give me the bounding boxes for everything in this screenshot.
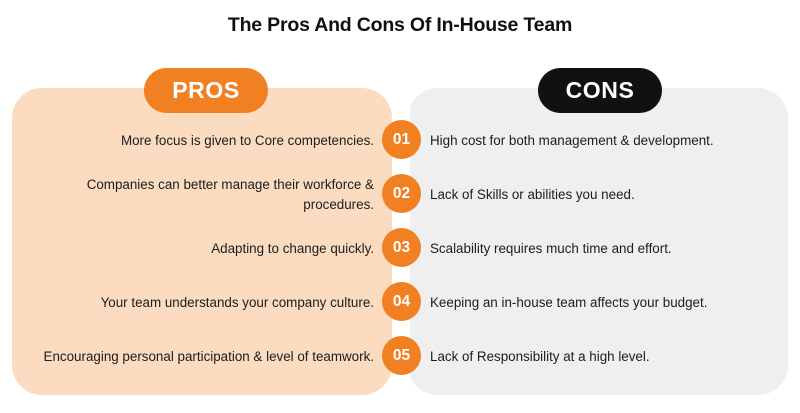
comparison-row: Encouraging personal participation & lev…: [0, 334, 800, 380]
row-number-badge: 01: [382, 120, 421, 159]
page-title: The Pros And Cons Of In-House Team: [0, 14, 800, 37]
pros-heading-badge: PROS: [144, 68, 268, 113]
pros-cons-infographic: The Pros And Cons Of In-House Team PROS …: [0, 0, 800, 413]
comparison-row: Adapting to change quickly. 03 Scalabili…: [0, 226, 800, 272]
comparison-row: Companies can better manage their workfo…: [0, 172, 800, 218]
comparison-row: Your team understands your company cultu…: [0, 280, 800, 326]
row-number-badge: 02: [382, 174, 421, 213]
cons-item-text: High cost for both management & developm…: [430, 131, 780, 151]
comparison-row: More focus is given to Core competencies…: [0, 118, 800, 164]
cons-heading-badge: CONS: [538, 68, 662, 113]
pros-item-text: More focus is given to Core competencies…: [24, 131, 374, 151]
pros-item-text: Your team understands your company cultu…: [24, 293, 374, 313]
cons-item-text: Keeping an in-house team affects your bu…: [430, 293, 780, 313]
cons-item-text: Scalability requires much time and effor…: [430, 239, 780, 259]
cons-item-text: Lack of Responsibility at a high level.: [430, 347, 780, 367]
pros-item-text: Encouraging personal participation & lev…: [24, 347, 374, 367]
pros-item-text: Adapting to change quickly.: [24, 239, 374, 259]
cons-item-text: Lack of Skills or abilities you need.: [430, 185, 780, 205]
row-number-badge: 05: [382, 336, 421, 375]
row-number-badge: 03: [382, 228, 421, 267]
comparison-rows: More focus is given to Core competencies…: [0, 118, 800, 395]
pros-item-text: Companies can better manage their workfo…: [24, 175, 374, 215]
row-number-badge: 04: [382, 282, 421, 321]
